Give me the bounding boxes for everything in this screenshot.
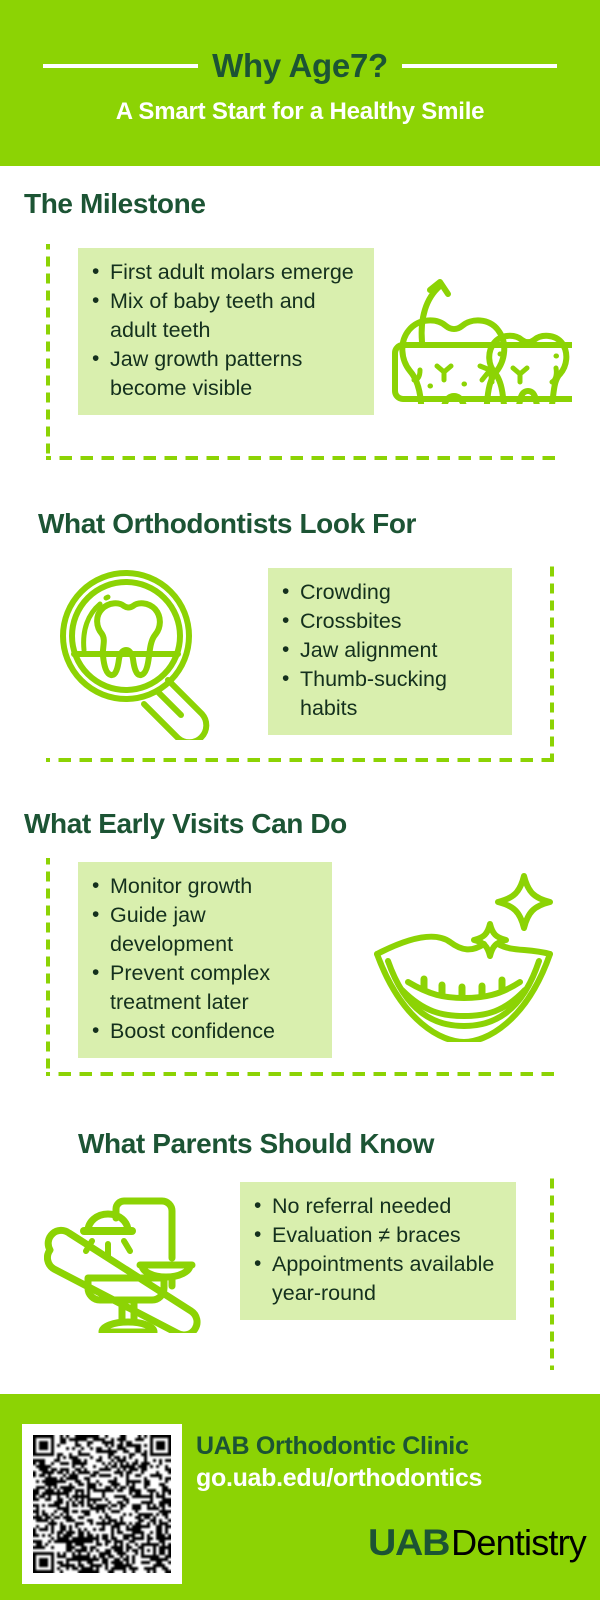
list-item: Prevent complex treatment later — [88, 959, 318, 1017]
section-dash-bottom-1 — [46, 456, 556, 460]
erupting-teeth-gums-icon — [392, 214, 572, 404]
bullet-box-orthodontists: Crowding Crossbites Jaw alignment Thumb-… — [268, 568, 512, 735]
dental-chair-icon — [44, 1178, 224, 1333]
bullet-list-early-visits: Monitor growth Guide jaw development Pre… — [88, 872, 318, 1046]
list-item: Monitor growth — [88, 872, 318, 901]
list-item: Thumb-sucking habits — [278, 665, 498, 723]
list-item: Jaw alignment — [278, 636, 498, 665]
smile-braces-sparkle-icon — [372, 862, 572, 1042]
title-rule-left — [43, 64, 198, 68]
dentistry-wordmark: Dentistry — [451, 1522, 586, 1564]
section-orthodontists-look-for: What Orthodontists Look For Crowdin — [0, 486, 600, 790]
uab-wordmark: UAB — [368, 1522, 449, 1564]
section-parents-should-know: What Parents Should Know — [0, 1110, 600, 1394]
list-item: Appointments available year-round — [250, 1250, 502, 1308]
section-title-parents: What Parents Should Know — [78, 1128, 434, 1160]
section-dash-left-1 — [46, 244, 50, 456]
clinic-name: UAB Orthodontic Clinic — [196, 1432, 588, 1461]
section-dash-right-2 — [550, 562, 554, 758]
title-row: Why Age7? — [0, 44, 600, 88]
infographic-page: Why Age7? A Smart Start for a Healthy Sm… — [0, 0, 600, 1600]
list-item: Jaw growth patterns become visible — [88, 345, 360, 403]
bullet-list-milestone: First adult molars emerge Mix of baby te… — [88, 258, 360, 403]
bullet-box-milestone: First adult molars emerge Mix of baby te… — [78, 248, 374, 415]
bullet-box-early-visits: Monitor growth Guide jaw development Pre… — [78, 862, 332, 1058]
section-title-orthodontists: What Orthodontists Look For — [38, 508, 416, 540]
section-dash-left-3 — [46, 858, 50, 1072]
qr-code-image — [33, 1435, 171, 1573]
section-dash-bottom-3 — [46, 1072, 554, 1076]
section-dash-right-4 — [550, 1174, 554, 1370]
list-item: First adult molars emerge — [88, 258, 360, 287]
clinic-url[interactable]: go.uab.edu/orthodontics — [196, 1464, 588, 1493]
bullet-list-orthodontists: Crowding Crossbites Jaw alignment Thumb-… — [278, 578, 498, 723]
list-item: Crowding — [278, 578, 498, 607]
footer-banner: UAB Orthodontic Clinic go.uab.edu/orthod… — [0, 1394, 600, 1600]
title-rule-right — [402, 64, 557, 68]
page-subtitle: A Smart Start for a Healthy Smile — [0, 98, 600, 126]
section-milestone: The Milestone First adult molars emerge … — [0, 166, 600, 486]
section-early-visits: What Early Visits Can Do Monitor growth … — [0, 790, 600, 1110]
section-title-early-visits: What Early Visits Can Do — [24, 808, 347, 840]
bullet-box-parents: No referral needed Evaluation ≠ braces A… — [240, 1182, 516, 1320]
section-dash-bottom-2 — [46, 758, 554, 762]
list-item: No referral needed — [250, 1192, 502, 1221]
bullet-list-parents: No referral needed Evaluation ≠ braces A… — [250, 1192, 502, 1308]
section-title-milestone: The Milestone — [24, 188, 206, 220]
list-item: Evaluation ≠ braces — [250, 1221, 502, 1250]
magnifier-tooth-icon — [58, 568, 228, 740]
list-item: Boost confidence — [88, 1017, 318, 1046]
header-banner: Why Age7? A Smart Start for a Healthy Sm… — [0, 0, 600, 166]
qr-code[interactable] — [22, 1424, 182, 1584]
list-item: Guide jaw development — [88, 901, 318, 959]
uab-dentistry-logo: UAB Dentistry — [368, 1522, 586, 1564]
page-title: Why Age7? — [212, 47, 388, 85]
list-item: Mix of baby teeth and adult teeth — [88, 287, 360, 345]
list-item: Crossbites — [278, 607, 498, 636]
